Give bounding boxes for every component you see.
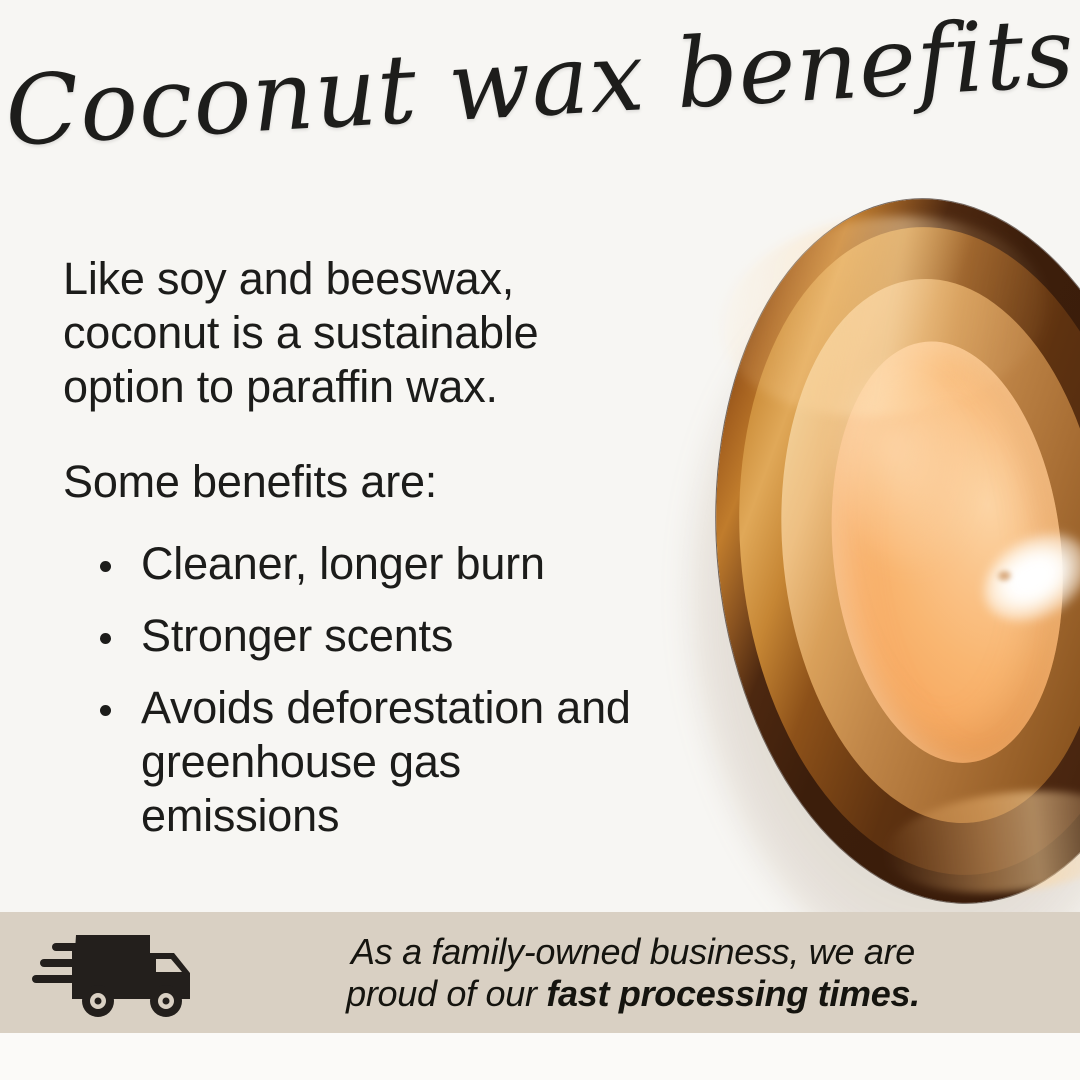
banner-line-1: As a family-owned business, we are [232, 931, 1034, 973]
benefits-list: Cleaner, longer burn Stronger scents Avo… [63, 537, 663, 843]
candle-jar-photo [620, 150, 1080, 940]
list-item: Avoids deforestation and greenhouse gas … [63, 681, 663, 843]
delivery-truck-glyph [32, 927, 200, 1019]
banner-line-2: proud of our fast processing times. [232, 973, 1034, 1015]
banner-line-2-normal: proud of our [346, 973, 546, 1014]
list-item: Stronger scents [63, 609, 663, 663]
banner-line-2-bold: fast processing times. [546, 973, 920, 1014]
list-item: Cleaner, longer burn [63, 537, 663, 591]
shipping-banner: As a family-owned business, we are proud… [0, 912, 1080, 1033]
intro-paragraph: Like soy and beeswax, coconut is a susta… [63, 252, 663, 414]
bottom-strip [0, 1033, 1080, 1080]
copy-column: Like soy and beeswax, coconut is a susta… [63, 252, 663, 861]
infographic-canvas: Coconut wax benefits Like soy and beeswa… [0, 0, 1080, 1080]
delivery-truck-icon [0, 927, 232, 1019]
wick-light-highlight [968, 516, 1080, 640]
benefits-lead-in: Some benefits are: [63, 455, 663, 509]
shipping-banner-text: As a family-owned business, we are proud… [232, 931, 1080, 1015]
page-title: Coconut wax benefits [0, 4, 1080, 160]
paragraph-spacer [63, 414, 663, 455]
